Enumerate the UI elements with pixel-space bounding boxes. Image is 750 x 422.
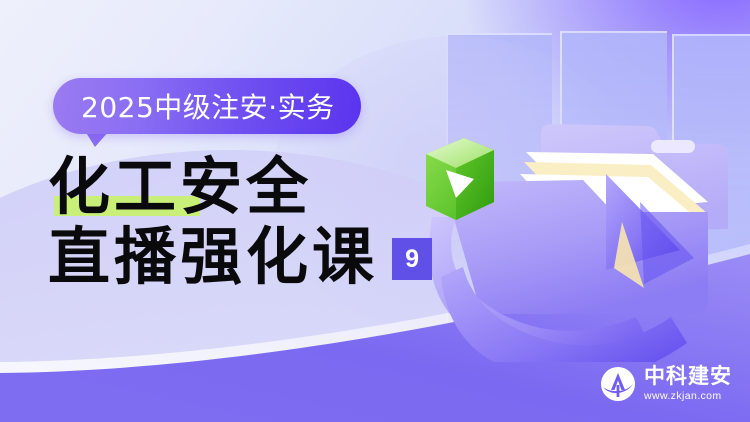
course-category-label: 2025中级注安·实务	[81, 86, 335, 126]
brand-name-cn: 中科建安	[644, 366, 732, 387]
course-banner: 2025中级注安·实务 化工安全 直播强化课 9 中科建安 www.zkjan.…	[0, 0, 750, 422]
headline-block: 化工安全 直播强化课 9	[48, 152, 468, 292]
episode-number-badge: 9	[392, 238, 432, 280]
course-category-badge: 2025中级注安·实务	[53, 78, 361, 134]
headline-line-1-text: 化工安全	[48, 150, 312, 223]
logo-text-block: 中科建安 www.zkjan.com	[644, 366, 732, 402]
brand-logo: 中科建安 www.zkjan.com	[600, 366, 732, 402]
brand-url: www.zkjan.com	[644, 391, 732, 402]
zkjan-circle-logo-icon	[600, 366, 636, 402]
headline-line-2: 直播强化课 9	[48, 222, 468, 292]
headline-line-2-text: 直播强化课	[48, 222, 378, 292]
headline-line-1: 化工安全	[48, 152, 468, 222]
